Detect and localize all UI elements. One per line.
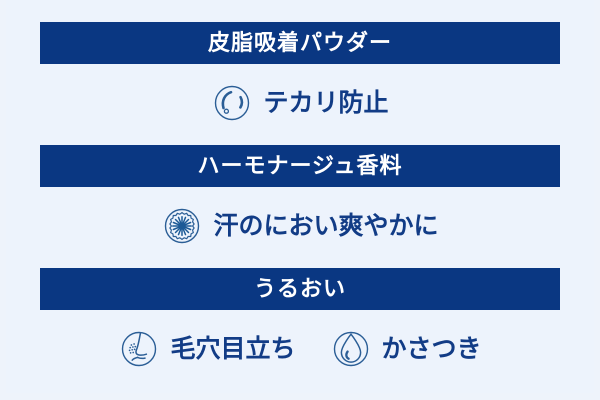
benefit-row: 汗のにおい爽やかに: [40, 187, 560, 265]
section-header-label: 皮脂吸着パウダー: [208, 32, 392, 54]
section-header-bar: 皮脂吸着パウダー: [40, 22, 560, 64]
benefit-label: 毛穴目立ち: [170, 337, 295, 362]
feature-infographic: 皮脂吸着パウダー テカリ防止: [0, 0, 600, 400]
section-header-bar: ハーモナージュ香料: [40, 145, 560, 187]
shine-circle-icon: [211, 82, 253, 124]
flower-burst-icon: [161, 205, 203, 247]
benefit-label: かさつき: [382, 337, 482, 362]
water-droplet-icon: [330, 328, 372, 370]
benefit-row: テカリ防止: [40, 64, 560, 142]
benefit-label: 汗のにおい爽やかに: [213, 214, 438, 239]
section-header-label: ハーモナージュ香料: [197, 155, 402, 177]
benefit-label: テカリ防止: [263, 91, 388, 116]
benefit-item: かさつき: [330, 328, 482, 370]
feature-section-sebum-powder: 皮脂吸着パウダー テカリ防止: [0, 22, 600, 142]
feature-section-moisture: うるおい: [0, 268, 600, 388]
benefit-item: テカリ防止: [211, 82, 388, 124]
benefit-row: 毛穴目立ち かさつき: [40, 310, 560, 388]
benefit-item: 毛穴目立ち: [118, 328, 295, 370]
section-header-label: うるおい: [254, 278, 346, 300]
feature-section-fragrance: ハーモナージュ香料: [0, 145, 600, 265]
benefit-item: 汗のにおい爽やかに: [161, 205, 438, 247]
section-header-bar: うるおい: [40, 268, 560, 310]
feature-section-list: 皮脂吸着パウダー テカリ防止: [0, 0, 600, 400]
nose-pores-icon: [118, 328, 160, 370]
